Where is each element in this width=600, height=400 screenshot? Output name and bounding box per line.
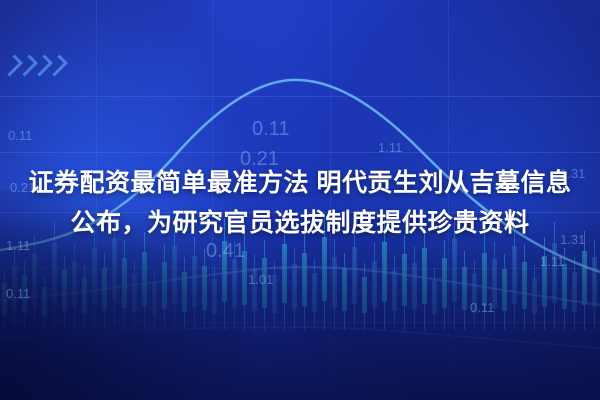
chart-tick-label: 0.41: [206, 240, 245, 263]
chart-tick-label: 0.11: [252, 118, 289, 141]
chart-tick-label: 0.11: [470, 300, 494, 315]
chevron-right-icon-group: [6, 56, 63, 75]
headline-line-1: 证券配资最简单最准方法 明代贡生刘从吉墓信息: [12, 163, 588, 203]
headline: 证券配资最简单最准方法 明代贡生刘从吉墓信息 公布，为研究官员选拔制度提供珍贵资…: [0, 163, 600, 243]
chart-tick-label: 1.01: [248, 272, 273, 287]
chart-tick-label: 1.11: [540, 254, 564, 269]
headline-line-2: 公布，为研究官员选拔制度提供珍贵资料: [12, 203, 588, 243]
chart-tick-label: 0.11: [6, 286, 30, 301]
chart-tick-label: 1.11: [378, 140, 402, 155]
chart-tick-label: 0.11: [8, 128, 32, 143]
promo-banner: 0.110.211.110.110.110.211.111.311.311.11…: [0, 0, 600, 400]
